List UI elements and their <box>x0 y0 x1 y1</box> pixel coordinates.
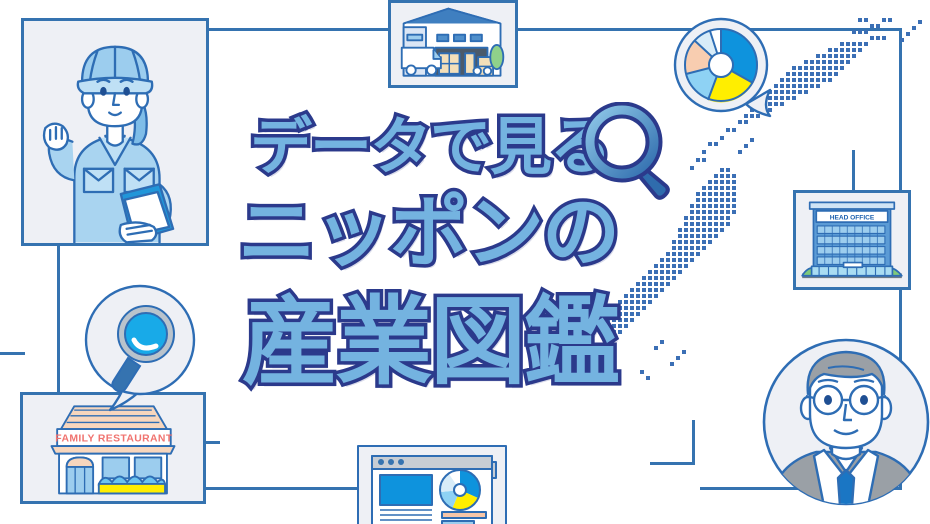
head-office-sign-text: HEAD OFFICE <box>830 214 875 221</box>
frame-bracket-horizontal <box>650 462 695 465</box>
magnifier-speech-bubble <box>76 282 204 412</box>
frame-line-left-vertical <box>57 240 60 400</box>
report-window-pie-chart <box>440 470 480 510</box>
poster-canvas: HEAD OFFICE <box>0 0 930 524</box>
worker-figure <box>24 21 206 243</box>
factory-worker-illustration <box>21 18 209 246</box>
businessman-figure <box>762 338 930 506</box>
frame-line-lower-left <box>190 487 368 490</box>
frame-line-top-left <box>205 28 405 31</box>
bubble-donut-chart <box>685 29 758 102</box>
warehouse-illustration <box>388 0 518 88</box>
page-title: データで見る ニッポンの 産業図鑑 <box>232 96 702 426</box>
magnifier-bubble-figure <box>76 282 204 412</box>
warehouse-figure <box>391 3 515 85</box>
businessman-portrait <box>762 338 930 506</box>
restaurant-sign-text: FAMILY RESTAURANT <box>55 433 173 444</box>
magnifier-icon <box>580 102 680 202</box>
head-office-figure: HEAD OFFICE <box>796 193 908 287</box>
title-line-3: 産業図鑑 <box>242 264 618 403</box>
report-window-figure <box>356 442 516 524</box>
frame-line-mid-left <box>0 352 25 355</box>
head-office-building-illustration: HEAD OFFICE <box>793 190 911 290</box>
web-report-window-illustration <box>356 442 516 524</box>
